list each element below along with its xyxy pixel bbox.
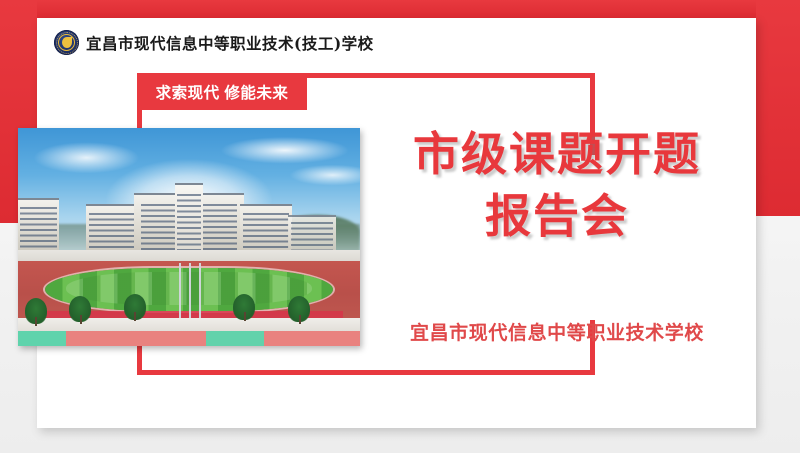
slide-header: 宜昌市现代信息中等职业技术(技工)学校	[37, 30, 374, 55]
photo-tree	[124, 294, 146, 320]
photo-tree	[25, 298, 47, 324]
photo-tree	[233, 294, 255, 320]
main-title: 市级课题开题 报告会	[367, 123, 747, 247]
main-title-line-2: 报告会	[367, 185, 747, 247]
header-school-name: 宜昌市现代信息中等职业技术(技工)学校	[86, 32, 374, 54]
decor-band-right	[756, 0, 800, 216]
slogan-banner: 求索现代 修能未来	[137, 73, 307, 110]
photo-foreground-court	[18, 331, 360, 346]
photo-tree	[288, 296, 310, 322]
subtitle-school-name: 宜昌市现代信息中等职业技术学校	[367, 318, 747, 345]
campus-photo	[18, 128, 360, 346]
photo-building-far-left	[18, 198, 59, 255]
photo-building-left	[86, 204, 137, 254]
photo-walkway	[18, 318, 360, 331]
photo-flagpole-3	[199, 263, 201, 322]
photo-tree	[69, 296, 91, 322]
main-title-line-1: 市级课题开题	[367, 123, 747, 185]
slide-surface: 宜昌市现代信息中等职业技术(技工)学校 求索现代 修能未来	[37, 18, 756, 428]
decor-band-top	[0, 0, 800, 18]
photo-building-tower	[175, 183, 202, 255]
photo-building-right	[240, 204, 291, 254]
slide-canvas: 宜昌市现代信息中等职业技术(技工)学校 求索现代 修能未来	[0, 0, 800, 453]
school-emblem-icon	[54, 30, 79, 55]
photo-flagpole-2	[189, 263, 191, 322]
photo-building-far-right	[288, 215, 336, 254]
emblem-ring-dots	[56, 32, 78, 54]
frame-edge-bottom	[137, 370, 595, 375]
photo-flagpole-1	[179, 263, 181, 322]
